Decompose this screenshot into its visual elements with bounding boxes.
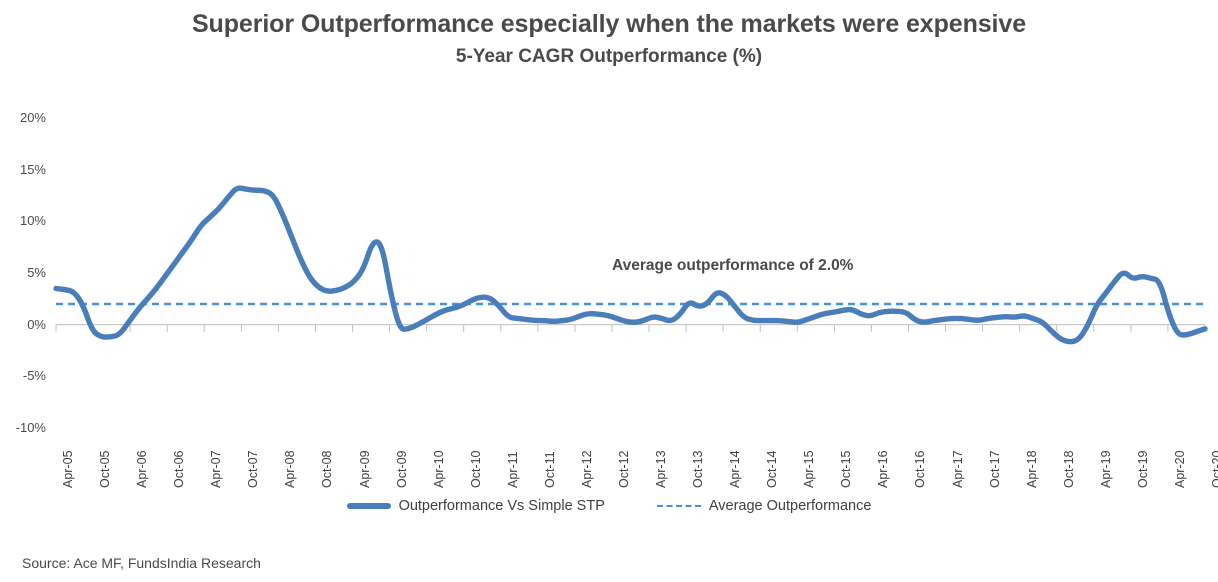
legend-solid-line-icon xyxy=(347,503,391,509)
legend-item-outperformance[interactable]: Outperformance Vs Simple STP xyxy=(347,498,605,514)
legend-label-outperformance: Outperformance Vs Simple STP xyxy=(399,498,605,514)
x-axis-tick-label: Oct-07 xyxy=(246,450,260,488)
x-axis-tick-label: Oct-19 xyxy=(1136,450,1150,488)
x-axis-tick-label: Apr-20 xyxy=(1173,450,1187,488)
y-axis-tick-label: 20% xyxy=(2,110,46,125)
x-axis-tick-label: Oct-09 xyxy=(395,450,409,488)
x-axis-tick-label: Apr-18 xyxy=(1025,450,1039,488)
x-axis-tick-label: Apr-09 xyxy=(358,450,372,488)
source-note: Source: Ace MF, FundsIndia Research xyxy=(22,555,261,571)
x-axis-tick-label: Apr-17 xyxy=(951,450,965,488)
x-axis-tick-label: Apr-13 xyxy=(654,450,668,488)
legend-item-average[interactable]: Average Outperformance xyxy=(657,498,872,514)
y-axis-tick-label: 0% xyxy=(2,317,46,332)
legend-dashed-line-icon xyxy=(657,505,701,507)
x-axis-tick-label: Oct-06 xyxy=(172,450,186,488)
x-axis-tick-label: Oct-15 xyxy=(839,450,853,488)
x-axis-tick-label: Oct-12 xyxy=(617,450,631,488)
y-axis-tick-label: 5% xyxy=(2,265,46,280)
y-axis-tick-label: 15% xyxy=(2,162,46,177)
x-axis-tick-label: Oct-20 xyxy=(1210,450,1218,488)
legend-label-average: Average Outperformance xyxy=(709,498,872,514)
y-axis-tick-label: 10% xyxy=(2,213,46,228)
x-axis-tick-label: Oct-14 xyxy=(765,450,779,488)
x-axis-tick-label: Apr-08 xyxy=(283,450,297,488)
x-axis-tick-label: Oct-08 xyxy=(320,450,334,488)
x-axis-tick-label: Apr-12 xyxy=(580,450,594,488)
x-axis-tick-label: Oct-11 xyxy=(543,451,557,488)
x-axis-tick-label: Oct-18 xyxy=(1062,450,1076,488)
chart-legend: Outperformance Vs Simple STP Average Out… xyxy=(0,498,1218,514)
x-axis-tick-label: Oct-17 xyxy=(988,450,1002,488)
x-axis-tick-label: Apr-14 xyxy=(728,450,742,488)
x-axis-tick-label: Apr-07 xyxy=(209,450,223,488)
x-axis-ticks xyxy=(56,325,1205,332)
y-axis-tick-label: -10% xyxy=(2,420,46,435)
x-axis-tick-label: Apr-06 xyxy=(135,450,149,488)
x-axis-tick-label: Apr-16 xyxy=(876,450,890,488)
x-axis-tick-label: Oct-05 xyxy=(98,450,112,488)
x-axis-tick-label: Oct-10 xyxy=(469,450,483,488)
x-axis-tick-label: Apr-10 xyxy=(432,450,446,488)
x-axis-tick-label: Apr-19 xyxy=(1099,450,1113,488)
x-axis-tick-label: Apr-11 xyxy=(506,451,520,488)
x-axis-tick-label: Oct-13 xyxy=(691,450,705,488)
average-annotation: Average outperformance of 2.0% xyxy=(612,257,853,275)
x-axis-tick-label: Apr-05 xyxy=(61,450,75,488)
y-axis-tick-label: -5% xyxy=(2,368,46,383)
chart-root: Superior Outperformance especially when … xyxy=(0,0,1218,582)
plot-area xyxy=(0,0,1218,582)
x-axis-tick-label: Oct-16 xyxy=(913,450,927,488)
x-axis-tick-label: Apr-15 xyxy=(802,450,816,488)
